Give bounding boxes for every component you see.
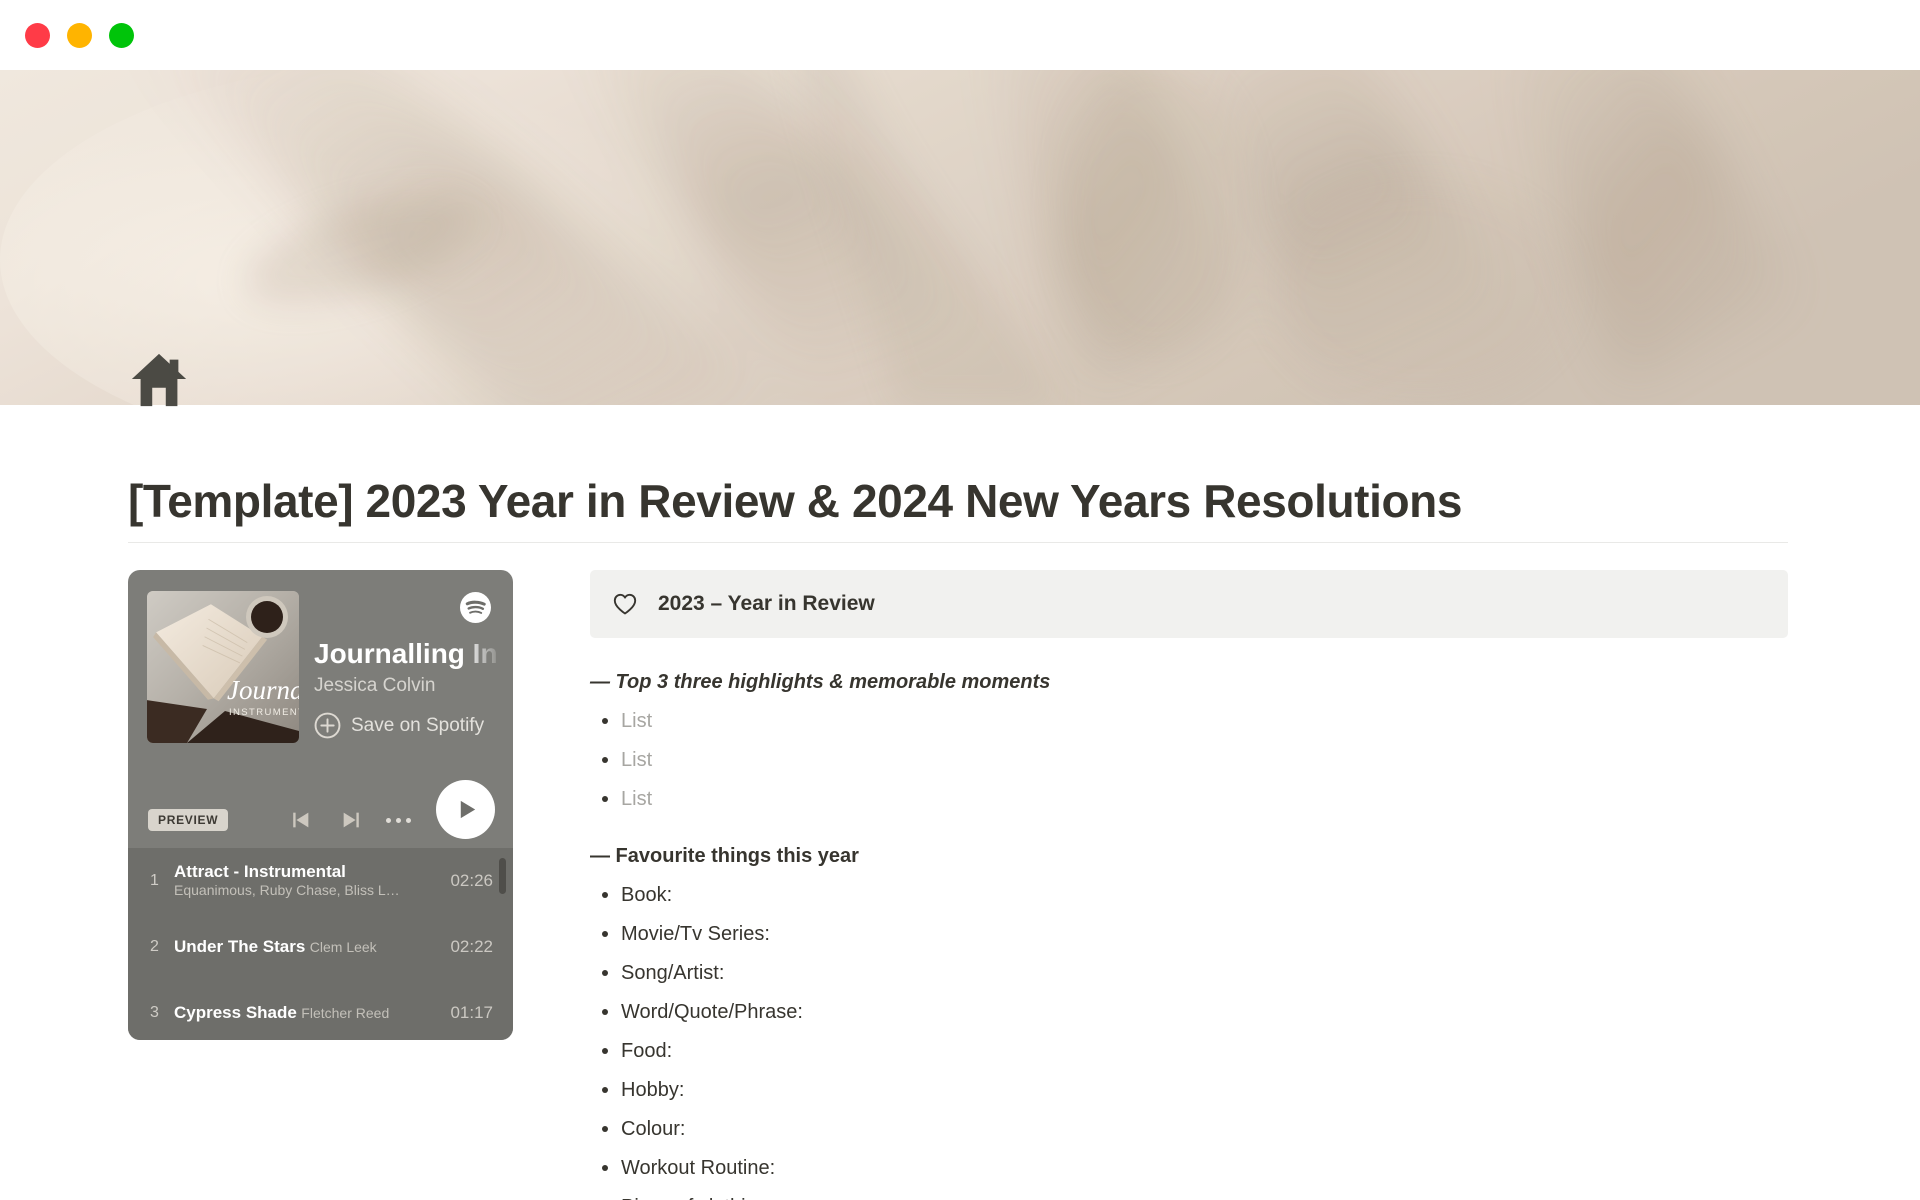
cover-artwork [0, 60, 1920, 405]
page-title[interactable]: [Template] 2023 Year in Review & 2024 Ne… [128, 472, 1788, 530]
track-title: Under The Stars [174, 937, 305, 956]
house-icon[interactable] [128, 348, 190, 410]
album-art: Journaling INSTRUMENTALS [147, 591, 299, 743]
spotify-player-controls: PREVIEW [128, 792, 513, 848]
window-minimize-button[interactable] [67, 23, 92, 48]
play-button[interactable] [436, 780, 495, 839]
more-horizontal-icon[interactable] [386, 818, 411, 823]
list-item[interactable]: Food: [590, 1038, 1788, 1064]
page-content: [Template] 2023 Year in Review & 2024 Ne… [0, 405, 1920, 1200]
content-columns: Journaling INSTRUMENTALS [0, 570, 1920, 1200]
list-item[interactable]: Word/Quote/Phrase: [590, 999, 1788, 1025]
section-heading-favourites[interactable]: — Favourite things this year [590, 845, 1788, 868]
list-item[interactable]: Colour: [590, 1116, 1788, 1142]
save-on-spotify-button[interactable]: Save on Spotify [314, 712, 484, 739]
album-art-image: Journaling INSTRUMENTALS [147, 591, 299, 743]
track-number: 3 [150, 1004, 174, 1022]
list-item[interactable]: Piece of clothing: [590, 1194, 1788, 1200]
list-item[interactable]: Song/Artist: [590, 960, 1788, 986]
callout-text: 2023 – Year in Review [658, 592, 875, 616]
list-item[interactable]: List [590, 747, 1788, 773]
playlist-artist[interactable]: Jessica Colvin [314, 675, 435, 697]
track-list[interactable]: 1 Attract - Instrumental Equanimous, Rub… [128, 848, 513, 1040]
track-row[interactable]: 3 Cypress Shade Fletcher Reed 01:17 [128, 980, 513, 1040]
album-art-title: Journaling [227, 675, 299, 705]
save-on-spotify-label: Save on Spotify [351, 715, 484, 737]
track-number: 1 [150, 872, 174, 890]
section-heading-highlights[interactable]: — Top 3 three highlights & memorable mom… [590, 671, 1788, 694]
track-row[interactable]: 1 Attract - Instrumental Equanimous, Rub… [128, 848, 513, 914]
list-item[interactable]: List [590, 708, 1788, 734]
track-number: 2 [150, 938, 174, 956]
window-maximize-button[interactable] [109, 23, 134, 48]
heart-icon [612, 591, 638, 617]
app-window: [Template] 2023 Year in Review & 2024 Ne… [0, 0, 1920, 1200]
playlist-title[interactable]: Journalling In [314, 638, 504, 670]
list-item[interactable]: List [590, 786, 1788, 812]
list-item[interactable]: Book: [590, 882, 1788, 908]
album-art-subtitle: INSTRUMENTALS [229, 707, 299, 718]
track-artist: Fletcher Reed [301, 1005, 389, 1021]
skip-previous-icon[interactable] [290, 809, 312, 831]
page-cover-image[interactable] [0, 60, 1920, 405]
spotify-player-embed[interactable]: Journaling INSTRUMENTALS [128, 570, 513, 1040]
list-item[interactable]: Hobby: [590, 1077, 1788, 1103]
track-artist: Clem Leek [310, 939, 377, 955]
track-meta: Attract - Instrumental Equanimous, Ruby … [174, 862, 450, 900]
track-meta: Under The Stars Clem Leek [174, 937, 450, 957]
house-icon-glyph [128, 348, 190, 410]
track-row[interactable]: 2 Under The Stars Clem Leek 02:22 [128, 914, 513, 980]
track-meta: Cypress Shade Fletcher Reed [174, 1003, 450, 1023]
favourites-list: Book: Movie/Tv Series: Song/Artist: Word… [590, 882, 1788, 1200]
preview-badge[interactable]: PREVIEW [148, 809, 228, 831]
skip-previous-icon-glyph [290, 809, 312, 831]
track-title: Cypress Shade [174, 1003, 297, 1022]
window-titlebar [0, 0, 1920, 70]
highlights-list: List List List [590, 708, 1788, 812]
skip-next-icon-glyph [340, 809, 362, 831]
spotify-icon[interactable] [460, 592, 491, 623]
track-duration: 01:17 [450, 1003, 493, 1023]
title-divider [128, 542, 1788, 543]
track-duration: 02:22 [450, 937, 493, 957]
heart-icon-glyph [612, 591, 638, 617]
track-title: Attract - Instrumental [174, 862, 346, 881]
spotify-icon-glyph [460, 592, 491, 623]
window-close-button[interactable] [25, 23, 50, 48]
plus-circle-icon [314, 712, 341, 739]
callout-block[interactable]: 2023 – Year in Review [590, 570, 1788, 638]
track-artist: Equanimous, Ruby Chase, Bliss L… [174, 882, 400, 898]
plus-circle-icon-glyph [314, 712, 341, 739]
track-duration: 02:26 [450, 871, 493, 891]
document-body: 2023 – Year in Review — Top 3 three high… [590, 570, 1788, 1200]
list-item[interactable]: Workout Routine: [590, 1155, 1788, 1181]
list-item[interactable]: Movie/Tv Series: [590, 921, 1788, 947]
play-icon [456, 798, 479, 821]
skip-next-icon[interactable] [340, 809, 362, 831]
